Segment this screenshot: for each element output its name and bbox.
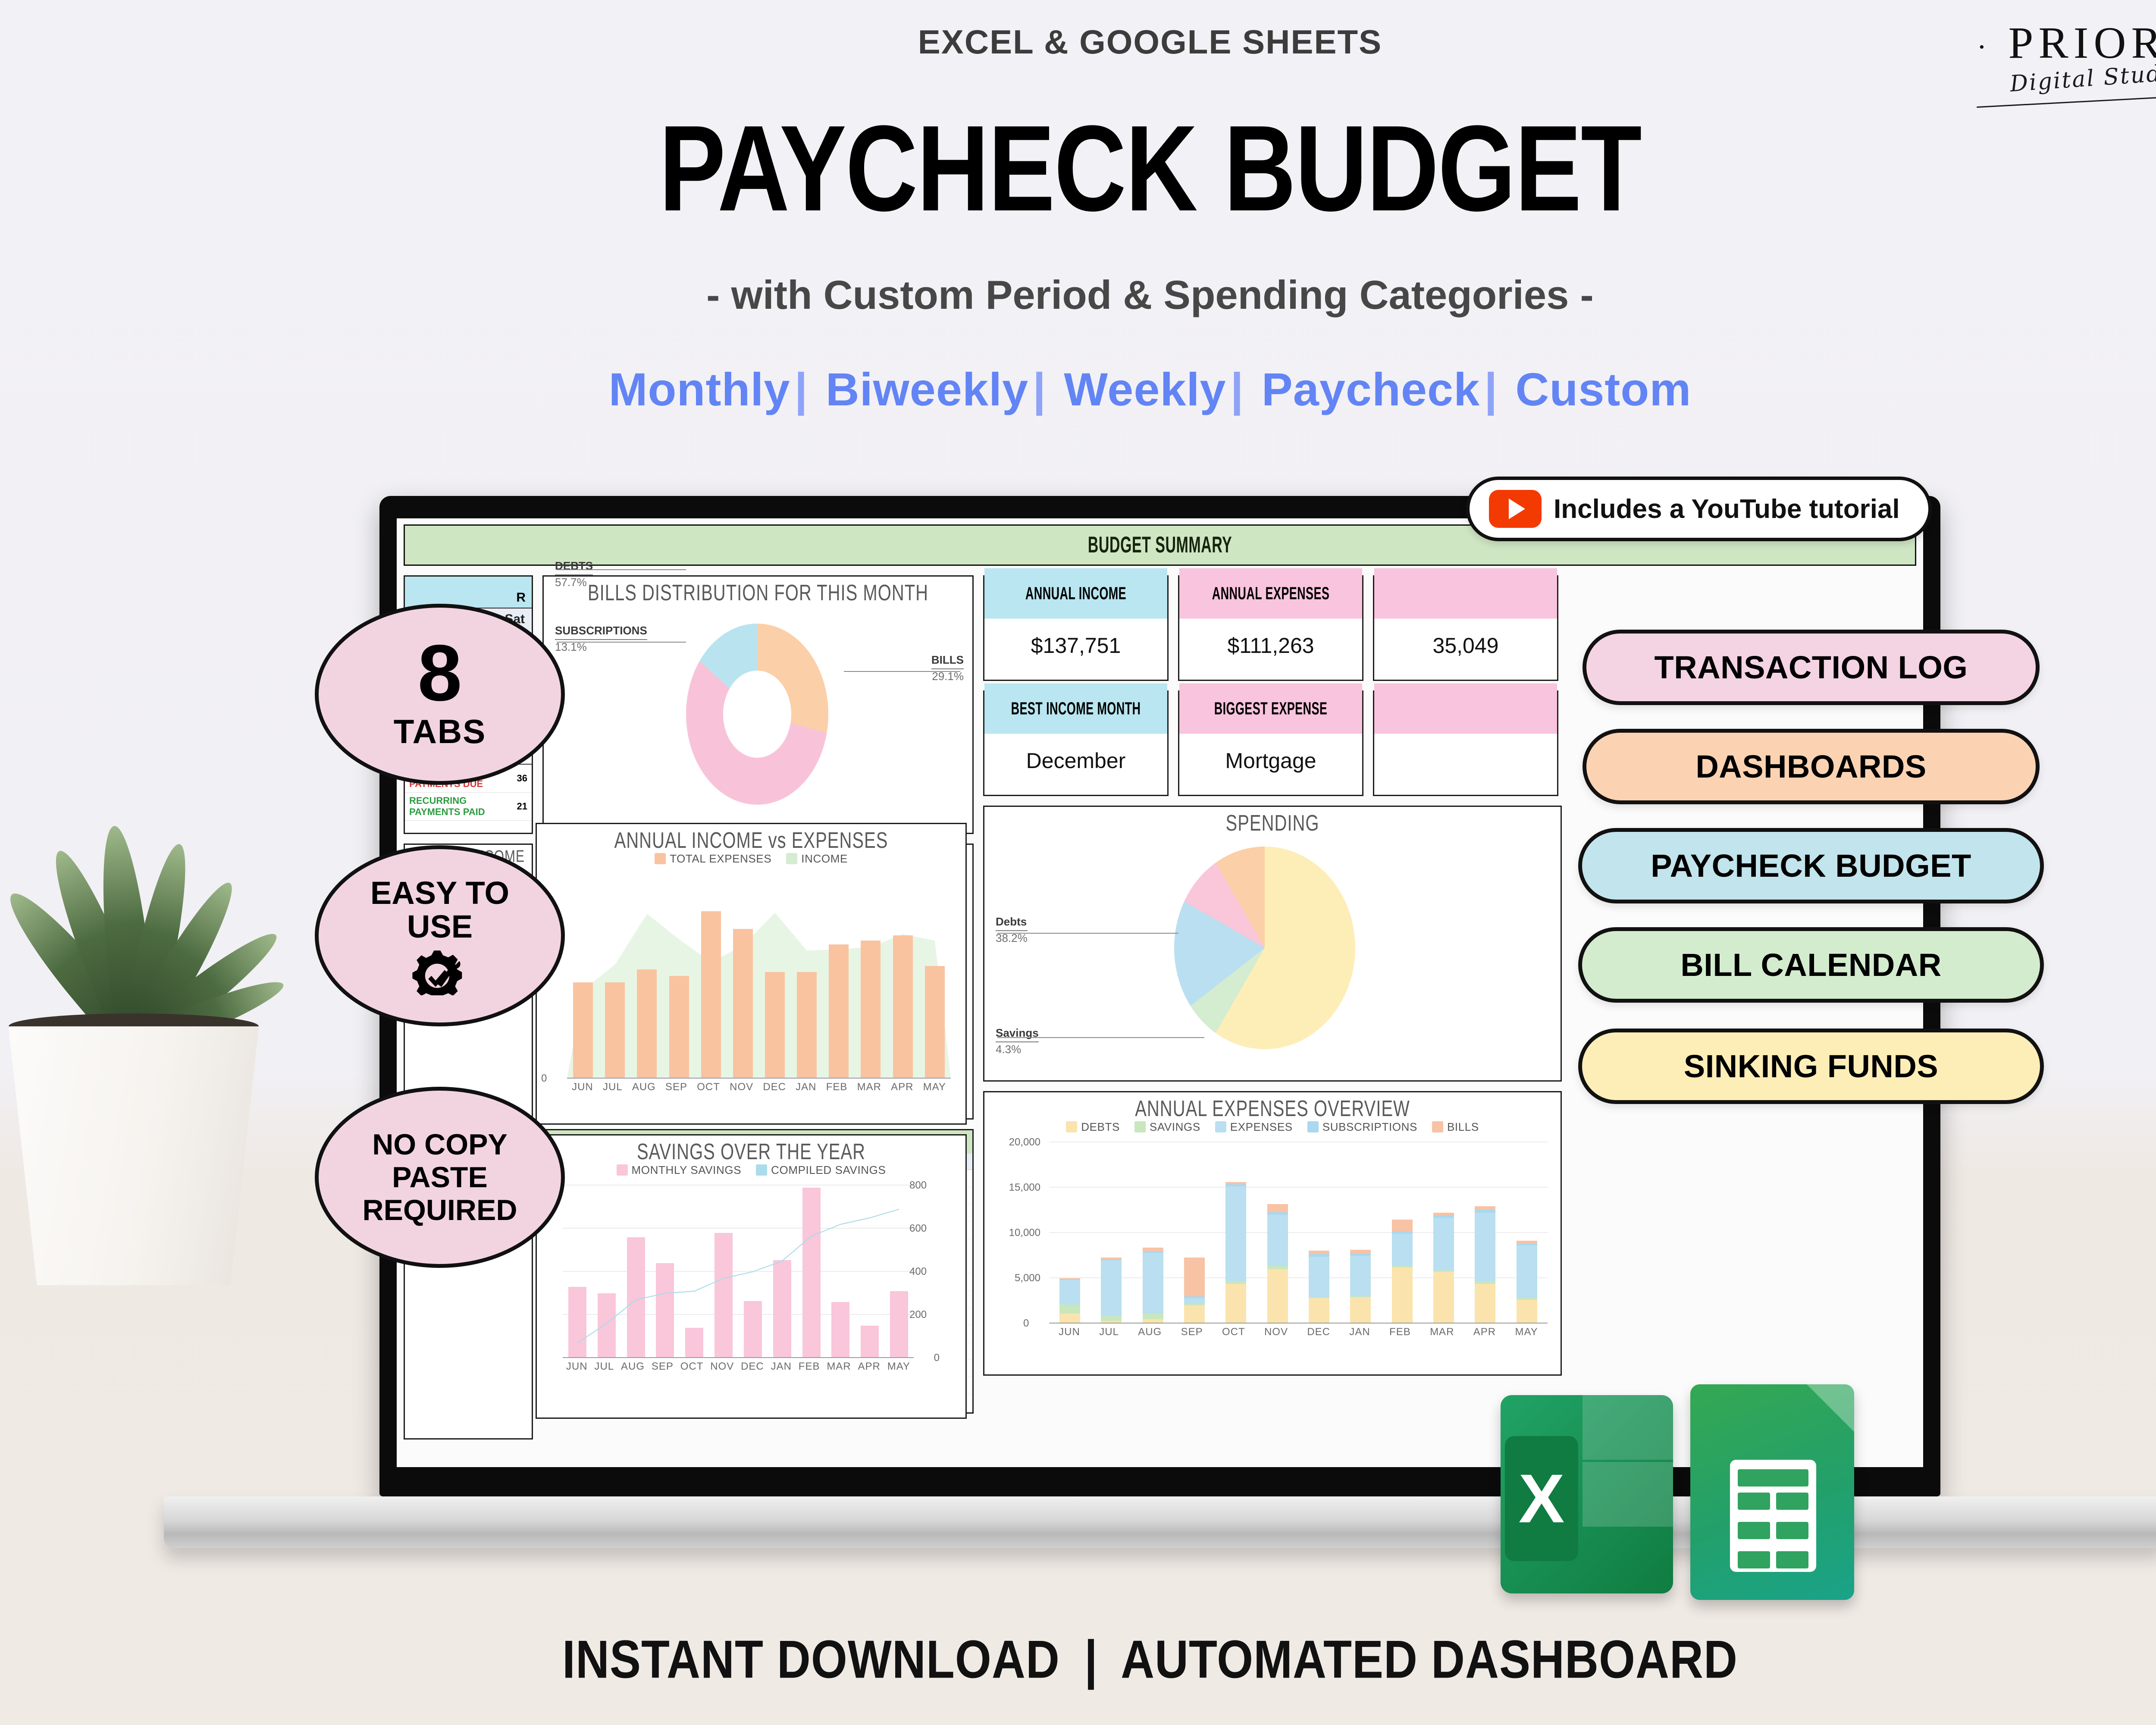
- bar-segment: [1433, 1272, 1454, 1324]
- x-tick-label: FEB: [799, 1361, 820, 1373]
- badge-nocopy-line2: PASTE: [392, 1161, 488, 1194]
- bar: [1475, 1142, 1495, 1324]
- y-tick-label: 800: [909, 1179, 957, 1192]
- donut-hole: [723, 671, 791, 758]
- kpi-label: BIGGEST EXPENSE: [1179, 684, 1362, 734]
- x-tick-label: APR: [1473, 1326, 1496, 1338]
- chart-plot-area: 2004006008000: [563, 1186, 914, 1358]
- bar-segment: [925, 966, 945, 1079]
- badge-no-copy-paste: NO COPY PASTE REQUIRED: [315, 1087, 565, 1268]
- bar-segment: [1433, 1218, 1454, 1270]
- logo-dot-left: ·: [1977, 31, 1992, 64]
- leader-line: [844, 671, 960, 672]
- bar-segment: [1225, 1284, 1246, 1324]
- brand-logo: · PRIORI · Digital Studio: [1925, 17, 2156, 125]
- legend-label: SAVINGS: [1150, 1120, 1200, 1133]
- bar: [1392, 1142, 1413, 1324]
- bar: [829, 876, 849, 1079]
- chart-x-labels: JUNJULAUGSEPOCTNOVDECJANFEBMARAPRMAY: [567, 1079, 951, 1093]
- bar-segment: [1267, 1204, 1288, 1212]
- period-sep-1: |: [790, 363, 812, 415]
- youtube-tutorial-badge[interactable]: Includes a YouTube tutorial: [1466, 477, 1932, 541]
- footer-left: INSTANT DOWNLOAD: [562, 1629, 1060, 1689]
- bar-segment: [1475, 1284, 1495, 1324]
- tag-label: DASHBOARDS: [1695, 748, 1926, 785]
- bar-segment: [1350, 1297, 1371, 1324]
- spending-label-debts: Debts38.2%: [996, 915, 1028, 945]
- bar: [765, 876, 785, 1079]
- legend-swatch: [1432, 1121, 1443, 1132]
- bar: [1350, 1142, 1371, 1324]
- chart-title: ANNUAL INCOME vs EXPENSES: [537, 823, 965, 853]
- bar-segment: [1309, 1257, 1329, 1298]
- legend-label: TOTAL EXPENSES: [670, 852, 771, 865]
- x-tick-label: DEC: [741, 1361, 764, 1373]
- kpi-hidden[interactable]: 35,049: [1373, 575, 1558, 681]
- leader-line: [557, 569, 686, 570]
- youtube-play-icon: [1489, 490, 1542, 528]
- bar-segment: [1184, 1305, 1205, 1324]
- calendar-row-paid: RECURRING PAYMENTS PAID 21: [405, 793, 532, 821]
- y-tick-label: 15,000: [993, 1182, 1040, 1194]
- x-tick-label: MAY: [1515, 1326, 1538, 1338]
- bar: [1433, 1142, 1454, 1324]
- bar: [1184, 1142, 1205, 1324]
- chart-title: BILLS DISTRIBUTION FOR THIS MONTH: [544, 573, 972, 606]
- bar-segment: [1059, 1280, 1080, 1305]
- google-sheets-icon: [1690, 1384, 1854, 1600]
- bar-segment: [1350, 1250, 1371, 1253]
- x-tick-label: FEB: [826, 1081, 848, 1093]
- kpi-placeholder[interactable]: [1373, 690, 1558, 796]
- bar-segment: [1267, 1269, 1288, 1324]
- x-axis: [567, 1078, 951, 1079]
- bar-segment: [701, 911, 721, 1079]
- bar-segment: [893, 935, 913, 1079]
- x-tick-label: DEC: [763, 1081, 786, 1093]
- x-tick-label: MAR: [827, 1361, 851, 1373]
- bar: [573, 876, 593, 1079]
- x-tick-label: OCT: [1222, 1326, 1245, 1338]
- x-tick-label: APR: [891, 1081, 913, 1093]
- payments-paid-label: RECURRING PAYMENTS PAID: [409, 795, 517, 818]
- x-tick-label: JUL: [1099, 1326, 1119, 1338]
- bar-segment: [1475, 1213, 1495, 1282]
- badge-tabs: 8 TABS: [315, 604, 565, 785]
- kpi-best-income-month[interactable]: BEST INCOME MONTH December: [983, 690, 1169, 796]
- calendar-title: R: [405, 577, 532, 608]
- x-tick-label: AUG: [1138, 1326, 1162, 1338]
- legend-item: SUBSCRIPTIONS: [1307, 1120, 1417, 1134]
- legend-label: MONTHLY SAVINGS: [632, 1164, 742, 1176]
- bar: [1517, 1142, 1537, 1324]
- tag-transaction-log[interactable]: TRANSACTION LOG: [1583, 630, 2040, 705]
- tag-label: BILL CALENDAR: [1680, 947, 1941, 983]
- kpi-label: ANNUAL INCOME: [984, 568, 1167, 619]
- bar-segment: [1143, 1248, 1163, 1251]
- bar-segment: [765, 972, 785, 1079]
- period-sep-4: |: [1480, 363, 1502, 415]
- leader-line: [997, 1037, 1204, 1038]
- excel-icon: X: [1501, 1395, 1673, 1593]
- tag-label: SINKING FUNDS: [1684, 1048, 1938, 1085]
- period-weekly: Weekly: [1064, 363, 1226, 415]
- budget-summary-label: BUDGET SUMMARY: [1088, 532, 1232, 558]
- x-tick-label: AUG: [621, 1361, 645, 1373]
- eyebrow-text: EXCEL & GOOGLE SHEETS: [0, 22, 2156, 62]
- page-subtitle: - with Custom Period & Spending Categori…: [0, 272, 2156, 318]
- y-tick-label: 400: [909, 1266, 957, 1278]
- bar: [733, 876, 753, 1079]
- dashboard-column-3: ANNUAL INCOME $137,751 ANNUAL EXPENSES $…: [983, 575, 1562, 1440]
- x-tick-label: JAN: [771, 1361, 792, 1373]
- bar-segment: [829, 944, 849, 1079]
- donut-label-bills: BILLS 29.1%: [931, 653, 964, 683]
- bar-segment: [1101, 1316, 1122, 1321]
- bar-segment: [1350, 1256, 1371, 1297]
- tag-dashboards[interactable]: DASHBOARDS: [1583, 729, 2040, 804]
- x-tick-label: JUL: [603, 1081, 623, 1093]
- bar: [1059, 1142, 1080, 1324]
- footer-separator: |: [1073, 1629, 1109, 1689]
- x-tick-label: OCT: [680, 1361, 704, 1373]
- period-monthly: Monthly: [609, 363, 790, 415]
- footer-right: AUTOMATED DASHBOARD: [1121, 1629, 1738, 1689]
- x-tick-label: SEP: [652, 1361, 674, 1373]
- chart-title: SAVINGS OVER THE YEAR: [537, 1134, 965, 1165]
- bar-segment: [861, 941, 881, 1079]
- x-tick-label: FEB: [1389, 1326, 1411, 1338]
- bar: [893, 876, 913, 1079]
- donut-chart: [1174, 847, 1355, 1049]
- badge-nocopy-line1: NO COPY: [372, 1128, 508, 1161]
- gear-wrench-icon: [407, 948, 472, 995]
- x-axis: [1049, 1323, 1548, 1324]
- period-custom: Custom: [1515, 363, 1691, 415]
- bar: [1225, 1142, 1246, 1324]
- bar: [637, 876, 657, 1079]
- badge-tabs-count: 8: [418, 637, 462, 709]
- y-tick-label: 10,000: [993, 1227, 1040, 1239]
- leader-line: [557, 642, 686, 643]
- badge-easy-line2: USE: [407, 910, 473, 944]
- chart-plot-area: 0: [567, 876, 951, 1079]
- kpi-biggest-expense[interactable]: BIGGEST EXPENSE Mortgage: [1178, 690, 1363, 796]
- plant-pot: [0, 1026, 276, 1285]
- legend-label: SUBSCRIPTIONS: [1322, 1120, 1417, 1133]
- kpi-row-2: BEST INCOME MONTH December BIGGEST EXPEN…: [983, 690, 1562, 796]
- bar-segment: [1143, 1253, 1163, 1314]
- donut-label-subscriptions: SUBSCRIPTIONS 13.1%: [555, 624, 647, 654]
- bar-segment: [669, 976, 689, 1079]
- legend-swatch: [1215, 1121, 1226, 1132]
- bar: [797, 876, 817, 1079]
- x-tick-label: NOV: [710, 1361, 734, 1373]
- badge-easy-to-use: EASY TO USE: [315, 845, 565, 1026]
- badge-nocopy-line3: REQUIRED: [363, 1194, 517, 1226]
- legend-label: EXPENSES: [1230, 1120, 1293, 1133]
- legend-swatch: [617, 1164, 628, 1176]
- chart-savings-over-the-year[interactable]: SAVINGS OVER THE YEAR MONTHLY SAVINGSCOM…: [536, 1134, 967, 1419]
- bar: [1101, 1142, 1122, 1324]
- chart-annual-expenses-overview[interactable]: ANNUAL EXPENSES OVERVIEW DEBTSSAVINGSEXP…: [983, 1091, 1562, 1376]
- app-icons: X: [1501, 1376, 1915, 1617]
- y-tick-label: 5,000: [993, 1272, 1040, 1284]
- bar-segment: [1059, 1314, 1080, 1324]
- bar: [1267, 1142, 1288, 1324]
- kpi-annual-expenses[interactable]: ANNUAL EXPENSES $111,263: [1178, 575, 1363, 681]
- youtube-badge-label: Includes a YouTube tutorial: [1554, 494, 1900, 524]
- bar-segment: [1309, 1251, 1329, 1254]
- x-tick-label: NOV: [1264, 1326, 1288, 1338]
- bar-segment: [733, 929, 753, 1079]
- chart-x-labels: JUNJULAUGSEPOCTNOVDECJANFEBMARAPRMAY: [1049, 1324, 1548, 1338]
- kpi-label: BEST INCOME MONTH: [984, 684, 1167, 734]
- kpi-value: 35,049: [1374, 610, 1557, 681]
- sheets-fold: [1807, 1384, 1854, 1432]
- legend-item: SAVINGS: [1134, 1120, 1200, 1134]
- period-sep-3: |: [1226, 363, 1248, 415]
- x-tick-label: APR: [858, 1361, 881, 1373]
- bar-segment: [1392, 1220, 1413, 1231]
- badge-easy-line1: EASY TO: [370, 876, 509, 910]
- x-tick-label: AUG: [632, 1081, 656, 1093]
- x-tick-label: JUL: [594, 1361, 614, 1373]
- period-biweekly: Biweekly: [826, 363, 1028, 415]
- y-tick-label: 600: [909, 1223, 957, 1235]
- period-sep-2: |: [1028, 363, 1050, 415]
- legend-swatch: [786, 853, 797, 864]
- tag-paycheck-budget[interactable]: PAYCHECK BUDGET: [1578, 828, 2044, 903]
- legend-swatch: [756, 1164, 767, 1176]
- legend-swatch: [1134, 1121, 1146, 1132]
- bar-group: [1049, 1142, 1548, 1324]
- x-tick-label: MAR: [1430, 1326, 1454, 1338]
- badge-tabs-label: TABS: [394, 712, 486, 751]
- y-tick-label: 20,000: [993, 1136, 1040, 1148]
- bar: [669, 876, 689, 1079]
- bar-segment: [1225, 1186, 1246, 1282]
- payments-due-value: 36: [517, 773, 527, 784]
- legend-swatch: [655, 853, 666, 864]
- footer-text: INSTANT DOWNLOAD | AUTOMATED DASHBOARD: [0, 1628, 2156, 1690]
- legend-item: MONTHLY SAVINGS: [617, 1164, 742, 1177]
- bar: [861, 876, 881, 1079]
- x-tick-label: JUN: [572, 1081, 593, 1093]
- period-paycheck: Paycheck: [1262, 363, 1480, 415]
- legend-item: BILLS: [1432, 1120, 1479, 1134]
- compiled-savings-line: [563, 1186, 914, 1358]
- legend-item: EXPENSES: [1215, 1120, 1293, 1134]
- x-tick-label: SEP: [1181, 1326, 1203, 1338]
- kpi-annual-income[interactable]: ANNUAL INCOME $137,751: [983, 575, 1169, 681]
- x-tick-label: JUN: [1059, 1326, 1080, 1338]
- chart-title: SPENDING: [984, 803, 1561, 836]
- y-tick-label: 200: [909, 1309, 957, 1321]
- bar-segment: [1475, 1206, 1495, 1210]
- y-tick-label: 0: [1023, 1317, 1029, 1330]
- excel-x-glyph: X: [1505, 1436, 1578, 1561]
- x-tick-label: NOV: [730, 1081, 753, 1093]
- bar-segment: [1392, 1267, 1413, 1324]
- bar-segment: [1517, 1300, 1537, 1324]
- legend-item: COMPILED SAVINGS: [756, 1164, 886, 1177]
- chart-spending[interactable]: SPENDING Debts38.2% Savings4.3%: [983, 806, 1562, 1082]
- bar-segment: [1184, 1258, 1205, 1296]
- logo-rule: [1977, 97, 2156, 108]
- tag-label: PAYCHECK BUDGET: [1651, 847, 1971, 884]
- bar-segment: [605, 982, 625, 1079]
- tag-label: TRANSACTION LOG: [1655, 649, 1968, 686]
- x-tick-label: MAY: [887, 1361, 910, 1373]
- bar-segment: [1309, 1298, 1329, 1324]
- page-title: PAYCHECK BUDGET: [0, 108, 2156, 230]
- legend-item: INCOME: [786, 852, 848, 866]
- tag-sinking-funds[interactable]: SINKING FUNDS: [1578, 1029, 2044, 1104]
- bar-segment: [637, 969, 657, 1079]
- legend-label: INCOME: [801, 852, 848, 865]
- bar-segment: [1059, 1305, 1080, 1314]
- legend-label: BILLS: [1447, 1120, 1479, 1133]
- x-tick-label: JAN: [796, 1081, 816, 1093]
- tag-bill-calendar[interactable]: BILL CALENDAR: [1578, 927, 2044, 1003]
- brand-name: PRIORI: [2009, 18, 2156, 68]
- bar-group: [567, 876, 951, 1079]
- legend-item: TOTAL EXPENSES: [655, 852, 771, 866]
- kpi-value: Mortgage: [1179, 725, 1362, 796]
- chart-bills-distribution[interactable]: BILLS DISTRIBUTION FOR THIS MONTH SUBSCR…: [542, 575, 974, 834]
- bar: [925, 876, 945, 1079]
- bar-segment: [1184, 1298, 1205, 1304]
- donut-chart: [686, 624, 828, 805]
- kpi-value: $111,263: [1179, 610, 1362, 681]
- legend-swatch: [1066, 1121, 1077, 1132]
- bar-segment: [797, 972, 817, 1079]
- kpi-label: ANNUAL EXPENSES: [1179, 568, 1362, 619]
- legend-label: DEBTS: [1081, 1120, 1120, 1133]
- legend-swatch: [1307, 1121, 1319, 1132]
- bar-segment: [1143, 1314, 1163, 1319]
- kpi-value: $137,751: [984, 610, 1167, 681]
- bar-segment: [1101, 1260, 1122, 1316]
- leader-line: [997, 933, 1178, 934]
- period-list: Monthly| Biweekly| Weekly| Paycheck| Cus…: [0, 362, 2156, 416]
- kpi-value: December: [984, 725, 1167, 796]
- chart-title: ANNUAL EXPENSES OVERVIEW: [984, 1091, 1561, 1122]
- x-tick-label: MAY: [923, 1081, 946, 1093]
- payments-paid-value: 21: [517, 801, 527, 812]
- bar: [701, 876, 721, 1079]
- legend-item: DEBTS: [1066, 1120, 1120, 1134]
- kpi-row-1: ANNUAL INCOME $137,751 ANNUAL EXPENSES $…: [983, 575, 1562, 681]
- x-tick-label: SEP: [665, 1081, 687, 1093]
- bar: [1143, 1142, 1163, 1324]
- legend-label: COMPILED SAVINGS: [771, 1164, 886, 1176]
- bar: [1309, 1142, 1329, 1324]
- x-tick-label: DEC: [1307, 1326, 1330, 1338]
- y-tick-label: 0: [934, 1352, 940, 1364]
- brand-name-row: · PRIORI ·: [1925, 17, 2156, 69]
- decorative-plant: [0, 574, 298, 1285]
- bar: [605, 876, 625, 1079]
- bar-segment: [1517, 1245, 1537, 1298]
- x-tick-label: JUN: [566, 1361, 588, 1373]
- x-tick-label: JAN: [1349, 1326, 1370, 1338]
- chart-annual-income-vs-expenses[interactable]: ANNUAL INCOME vs EXPENSES TOTAL EXPENSES…: [536, 823, 967, 1125]
- bar-segment: [1392, 1234, 1413, 1266]
- bar-segment: [573, 982, 593, 1079]
- x-tick-label: MAR: [857, 1081, 881, 1093]
- bar-segment: [1267, 1215, 1288, 1266]
- x-tick-label: OCT: [697, 1081, 720, 1093]
- spending-label-savings: Savings4.3%: [996, 1026, 1039, 1056]
- donut-value-debts: 57.7%: [555, 576, 587, 589]
- chart-x-labels: JUNJULAUGSEPOCTNOVDECJANFEBMARAPRMAY: [563, 1358, 914, 1373]
- y-tick-label: 0: [541, 1073, 547, 1085]
- bar-segment: [1267, 1266, 1288, 1269]
- donut-label-debts: DEBTS 57.7%: [555, 559, 593, 589]
- chart-plot-area: 5,00010,00015,00020,0000: [1049, 1142, 1548, 1324]
- sheets-grid-glyph: [1730, 1460, 1816, 1572]
